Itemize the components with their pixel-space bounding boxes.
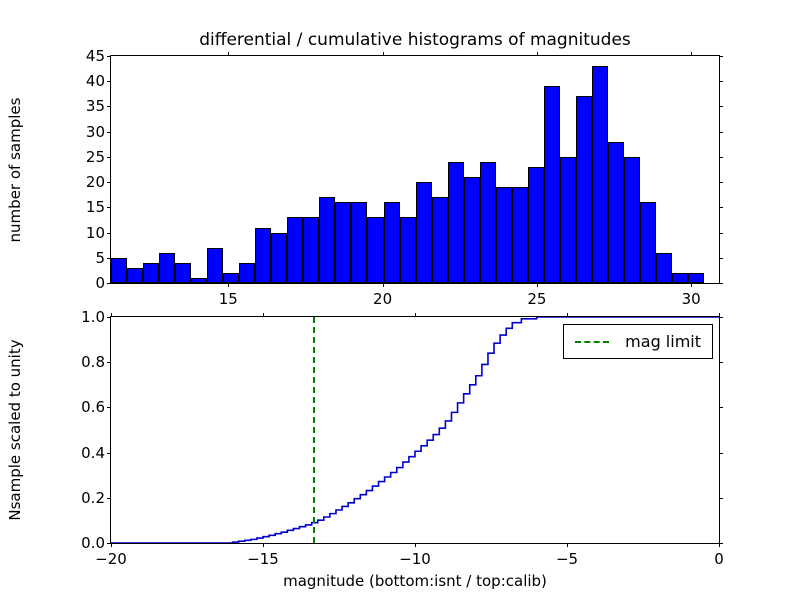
top-x-tick-top	[228, 52, 229, 56]
histogram-bar	[384, 202, 400, 283]
bottom-y-tick	[107, 453, 111, 454]
top-x-tick	[383, 283, 384, 287]
top-y-axis-label: number of samples	[6, 90, 24, 250]
top-y-tick-label: 10	[86, 224, 105, 242]
bottom-y-tick-label: 0.6	[81, 398, 105, 416]
bottom-x-tick	[719, 543, 720, 547]
bottom-x-tick	[111, 543, 112, 547]
bottom-x-tick-label: −15	[247, 550, 279, 568]
top-y-tick-right	[719, 258, 723, 259]
legend-label-mag-limit: mag limit	[625, 332, 701, 351]
top-y-tick	[107, 56, 111, 57]
bottom-y-tick	[107, 362, 111, 363]
top-y-tick-right	[719, 207, 723, 208]
bottom-x-tick-top	[415, 313, 416, 317]
histogram-bar	[432, 197, 448, 283]
histogram-bar	[608, 142, 624, 283]
histogram-bar	[464, 177, 480, 283]
bottom-y-axis-label: Nsample scaled to unity	[6, 330, 24, 530]
top-x-tick	[537, 283, 538, 287]
histogram-bar	[416, 182, 432, 283]
top-y-tick	[107, 182, 111, 183]
histogram-bar	[111, 258, 127, 283]
bottom-y-tick-right	[719, 498, 723, 499]
bottom-x-tick-label: 0	[714, 550, 724, 568]
histogram-bar	[656, 253, 672, 283]
top-y-tick	[107, 132, 111, 133]
bottom-x-tick-top	[263, 313, 264, 317]
top-y-tick-label: 0	[95, 274, 105, 292]
top-x-tick-label: 20	[373, 290, 392, 308]
bottom-y-tick-label: 0.4	[81, 444, 105, 462]
histogram-bar	[255, 228, 271, 283]
histogram-bar	[159, 253, 175, 283]
legend: mag limit	[563, 324, 713, 359]
top-y-tick	[107, 233, 111, 234]
histogram-bar	[624, 157, 640, 283]
bottom-y-tick-label: 0.8	[81, 353, 105, 371]
mag-limit-vline	[313, 317, 315, 543]
bottom-x-tick-top	[719, 313, 720, 317]
histogram-bar	[640, 202, 656, 283]
bottom-x-axis-label: magnitude (bottom:isnt / top:calib)	[110, 572, 720, 590]
histogram-bar	[351, 202, 367, 283]
histogram-bar	[688, 273, 704, 283]
top-y-tick-label: 30	[86, 123, 105, 141]
top-y-tick	[107, 106, 111, 107]
top-y-tick	[107, 283, 111, 284]
histogram-bar	[560, 157, 576, 283]
histogram-bar	[223, 273, 239, 283]
top-y-tick-label: 15	[86, 198, 105, 216]
top-y-tick-right	[719, 56, 723, 57]
bottom-cumulative-axes: 0.00.20.40.60.81.0 −20−15−10−50 Nsample …	[110, 316, 720, 544]
top-y-tick	[107, 258, 111, 259]
histogram-bar	[143, 263, 159, 283]
histogram-bar	[672, 273, 688, 283]
bottom-y-tick	[107, 317, 111, 318]
histogram-bar	[175, 263, 191, 283]
histogram-bar	[448, 162, 464, 283]
bottom-y-tick	[107, 498, 111, 499]
bottom-y-tick-right	[719, 362, 723, 363]
histogram-bar	[544, 86, 560, 283]
bottom-y-tick-label: 1.0	[81, 308, 105, 326]
top-y-tick-right	[719, 182, 723, 183]
histogram-bar	[496, 187, 512, 283]
bottom-x-tick-top	[567, 313, 568, 317]
bottom-y-tick-right	[719, 407, 723, 408]
top-x-tick-top	[383, 52, 384, 56]
top-y-tick-right	[719, 283, 723, 284]
bottom-x-tick	[415, 543, 416, 547]
bottom-y-tick-right	[719, 317, 723, 318]
histogram-bar	[576, 96, 592, 283]
bottom-x-tick-label: −20	[95, 550, 127, 568]
histogram-bar	[480, 162, 496, 283]
top-y-tick-right	[719, 106, 723, 107]
top-y-tick-label: 45	[86, 47, 105, 65]
top-y-tick	[107, 157, 111, 158]
top-x-tick	[228, 283, 229, 287]
top-x-tick-label: 30	[682, 290, 701, 308]
histogram-bar	[335, 202, 351, 283]
histogram-bar	[191, 278, 207, 283]
top-x-tick-top	[691, 52, 692, 56]
figure-title: differential / cumulative histograms of …	[110, 30, 720, 50]
bottom-x-tick-label: −10	[399, 550, 431, 568]
top-x-tick-label: 15	[219, 290, 238, 308]
figure: differential / cumulative histograms of …	[0, 0, 800, 600]
top-y-tick-label: 5	[95, 249, 105, 267]
top-y-tick-label: 20	[86, 173, 105, 191]
histogram-bar	[287, 217, 303, 283]
histogram-bar	[367, 217, 383, 283]
bottom-x-tick	[567, 543, 568, 547]
histogram-bar	[400, 217, 416, 283]
histogram-bar	[271, 233, 287, 283]
bottom-x-tick-label: −5	[556, 550, 578, 568]
bottom-y-tick-right	[719, 453, 723, 454]
bottom-x-tick	[263, 543, 264, 547]
histogram-bar	[528, 167, 544, 283]
histogram-bar	[303, 217, 319, 283]
top-y-tick	[107, 207, 111, 208]
bottom-y-tick	[107, 407, 111, 408]
top-y-tick-right	[719, 132, 723, 133]
top-y-tick-label: 35	[86, 97, 105, 115]
histogram-bar	[127, 268, 143, 283]
top-y-tick-right	[719, 157, 723, 158]
top-y-tick-label: 25	[86, 148, 105, 166]
top-x-tick-top	[537, 52, 538, 56]
histogram-bar	[239, 263, 255, 283]
bottom-x-tick-top	[111, 313, 112, 317]
top-histogram-axes: 051015202530354045 15202530 number of sa…	[110, 55, 720, 284]
top-x-tick	[691, 283, 692, 287]
top-x-tick-label: 25	[527, 290, 546, 308]
histogram-bar	[512, 187, 528, 283]
top-y-tick-right	[719, 233, 723, 234]
histogram-bar	[319, 197, 335, 283]
top-y-tick-label: 40	[86, 72, 105, 90]
histogram-bar	[207, 248, 223, 283]
top-plot-area	[111, 56, 719, 283]
top-y-tick	[107, 81, 111, 82]
histogram-bar	[592, 66, 608, 283]
bottom-y-tick-label: 0.2	[81, 489, 105, 507]
top-y-tick-right	[719, 81, 723, 82]
legend-dashed-line-icon	[575, 341, 609, 343]
